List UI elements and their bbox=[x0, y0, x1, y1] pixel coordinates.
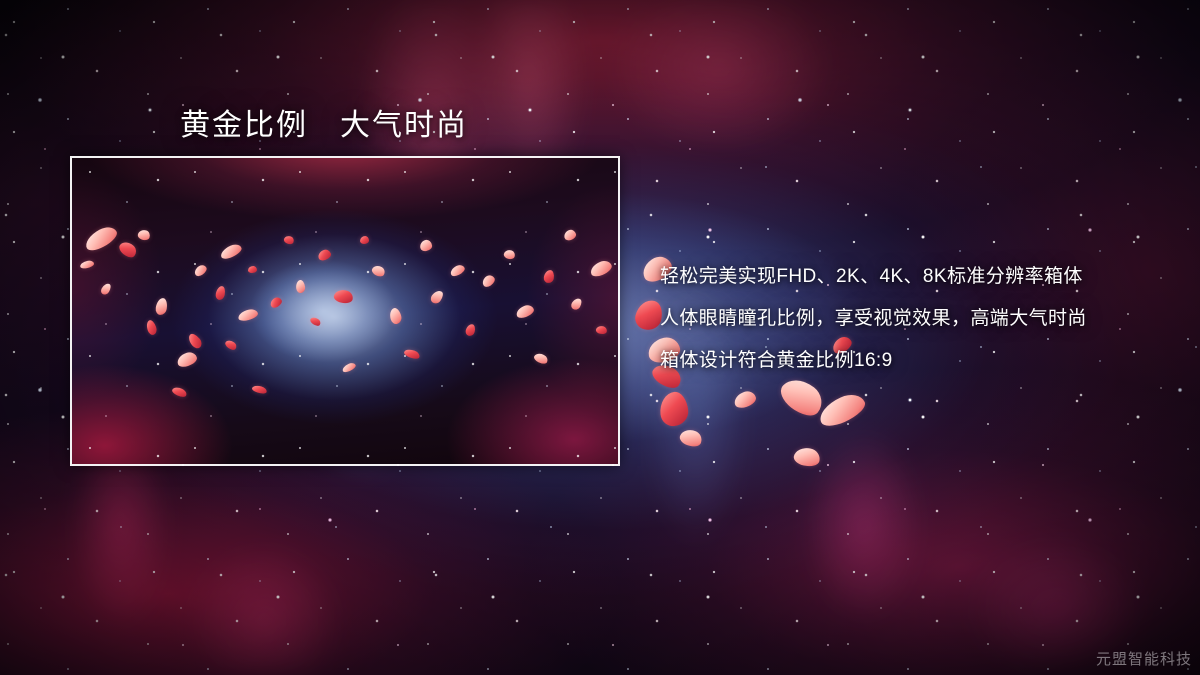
watermark-brand: 元盟智能科技 bbox=[1096, 648, 1192, 669]
petal bbox=[658, 391, 689, 428]
petal bbox=[732, 389, 758, 410]
petal bbox=[792, 445, 821, 468]
page-title: 黄金比例 大气时尚 bbox=[180, 100, 468, 144]
showcase-starfield bbox=[72, 158, 618, 464]
body-copy-block: 轻松完美实现FHD、2K、4K、8K标准分辨率箱体 人体眼睛瞳孔比例，享受视觉效… bbox=[660, 256, 1160, 382]
petal bbox=[678, 427, 704, 450]
slide-root: 黄金比例 大气时尚 轻松完美实现FHD、2K、4K、8K标准分辨率箱体 人体眼睛… bbox=[0, 0, 1200, 675]
body-line-2: 人体眼睛瞳孔比例，享受视觉效果，高端大气时尚 bbox=[660, 298, 1160, 340]
showcase-image-frame bbox=[70, 156, 620, 466]
petal bbox=[815, 389, 869, 430]
body-line-1: 轻松完美实现FHD、2K、4K、8K标准分辨率箱体 bbox=[660, 256, 1160, 298]
body-line-3: 箱体设计符合黄金比例16:9 bbox=[660, 340, 1160, 382]
